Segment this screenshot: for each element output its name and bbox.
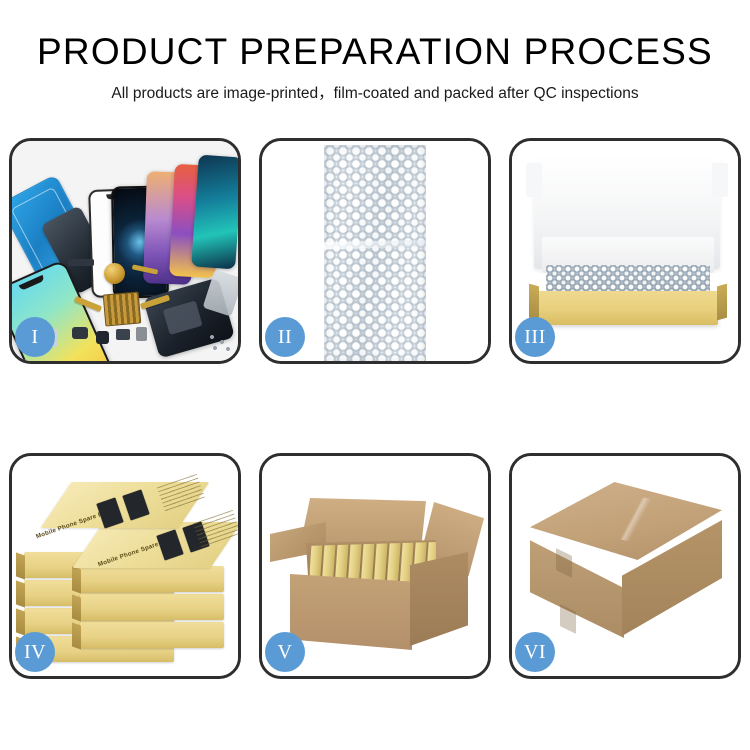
small-component-part [96,331,109,344]
step-badge-6: VI [515,632,555,672]
retail-box-edge [80,594,224,620]
box-spec-lines [157,474,205,512]
step-badge-5: V [265,632,305,672]
bubble-wrap-edge [424,145,438,361]
step-panel-bubble-wrap: II [259,138,491,364]
retail-box-edge [80,566,224,592]
gradient-phone-teal [191,155,238,270]
carton-front-face [290,574,412,650]
small-component-part [68,259,94,266]
page-subtitle: All products are image-printed，film-coat… [0,84,750,104]
product-preparation-infographic: PRODUCT PREPARATION PROCESS All products… [0,0,750,750]
retail-box-stack: Mobile Phone Spare Parts Mobile Phone Sp… [18,476,234,664]
page-title: PRODUCT PREPARATION PROCESS [0,31,750,73]
yellow-box-base [538,291,718,325]
box-spec-lines [193,510,238,548]
bubble-wrap-edge [312,145,326,361]
step-panel-boxed-stack: Mobile Phone Spare Parts Mobile Phone Sp… [9,453,241,679]
retail-box-edge [80,622,224,648]
header: PRODUCT PREPARATION PROCESS All products… [0,0,750,104]
step-badge-3: III [515,317,555,357]
step-panel-inner-box: III [509,138,741,364]
bubble-wrapped-contents [546,265,710,293]
step-badge-2: II [265,317,305,357]
bubble-wrap-strip [324,145,426,361]
step-badge-1: I [15,317,55,357]
step-panel-sealed-carton: VI [509,453,741,679]
screws-part [208,333,234,353]
chip-grid-part [103,291,142,326]
step-panel-carton-filling: V [259,453,491,679]
small-component-part [116,329,130,340]
carton-side-face [410,552,468,646]
small-component-part [72,327,88,339]
gold-coin-part [104,263,125,284]
steps-grid: I II [9,138,741,679]
step-panel-products: I [9,138,241,364]
step-badge-4: IV [15,632,55,672]
small-component-part [136,327,147,341]
